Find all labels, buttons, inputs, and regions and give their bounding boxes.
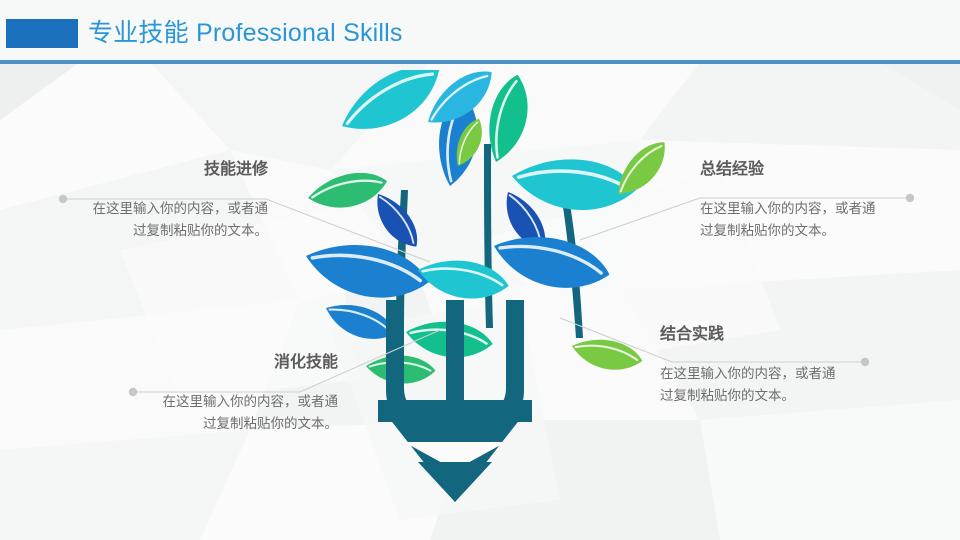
callout-body: 在这里输入你的内容，或者通 过复制粘贴你的文本。: [88, 391, 338, 435]
callout-title: 总结经验: [700, 160, 950, 180]
callout-title: 结合实践: [660, 325, 910, 345]
callout-spacer: [18, 180, 268, 198]
pencil-body: [378, 300, 532, 502]
callout-spacer: [700, 180, 950, 198]
callout-combine-practice[interactable]: 结合实践 在这里输入你的内容，或者通 过复制粘贴你的文本。: [660, 325, 910, 407]
slide-canvas: 专业技能 Professional Skills: [0, 0, 960, 540]
callout-digest-skills[interactable]: 消化技能 在这里输入你的内容，或者通 过复制粘贴你的文本。: [88, 353, 338, 435]
callout-summarize-experience[interactable]: 总结经验 在这里输入你的内容，或者通 过复制粘贴你的文本。: [700, 160, 950, 242]
pencil-tree-illustration: [300, 70, 680, 510]
header-divider-rule: [0, 60, 960, 64]
header-accent-block: [6, 19, 78, 48]
callout-spacer: [660, 345, 910, 363]
callout-title: 技能进修: [18, 160, 268, 180]
callout-body: 在这里输入你的内容，或者通 过复制粘贴你的文本。: [18, 198, 268, 242]
callout-title: 消化技能: [88, 353, 338, 373]
callout-body: 在这里输入你的内容，或者通 过复制粘贴你的文本。: [660, 363, 910, 407]
callout-body: 在这里输入你的内容，或者通 过复制粘贴你的文本。: [700, 198, 950, 242]
page-title: 专业技能 Professional Skills: [88, 16, 403, 50]
callout-spacer: [88, 373, 338, 391]
callout-skill-advancement[interactable]: 技能进修 在这里输入你的内容，或者通 过复制粘贴你的文本。: [18, 160, 268, 242]
